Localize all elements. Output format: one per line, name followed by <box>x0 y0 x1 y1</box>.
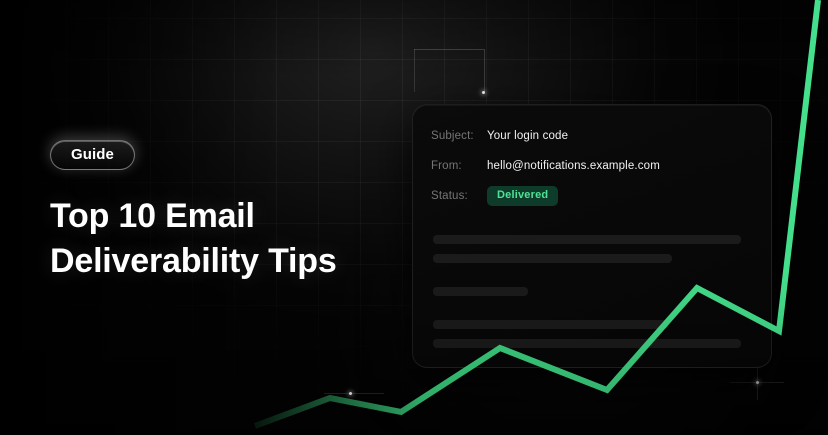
page-title-line-1: Top 10 Email <box>50 194 400 239</box>
page-title-line-2: Deliverability Tips <box>50 239 400 284</box>
category-pill[interactable]: Guide <box>50 140 135 170</box>
page-title: Top 10 Email Deliverability Tips <box>50 194 400 284</box>
hero-banner: Subject: Your login code From: hello@not… <box>0 0 828 435</box>
hero-copy: Guide Top 10 Email Deliverability Tips <box>50 140 400 284</box>
